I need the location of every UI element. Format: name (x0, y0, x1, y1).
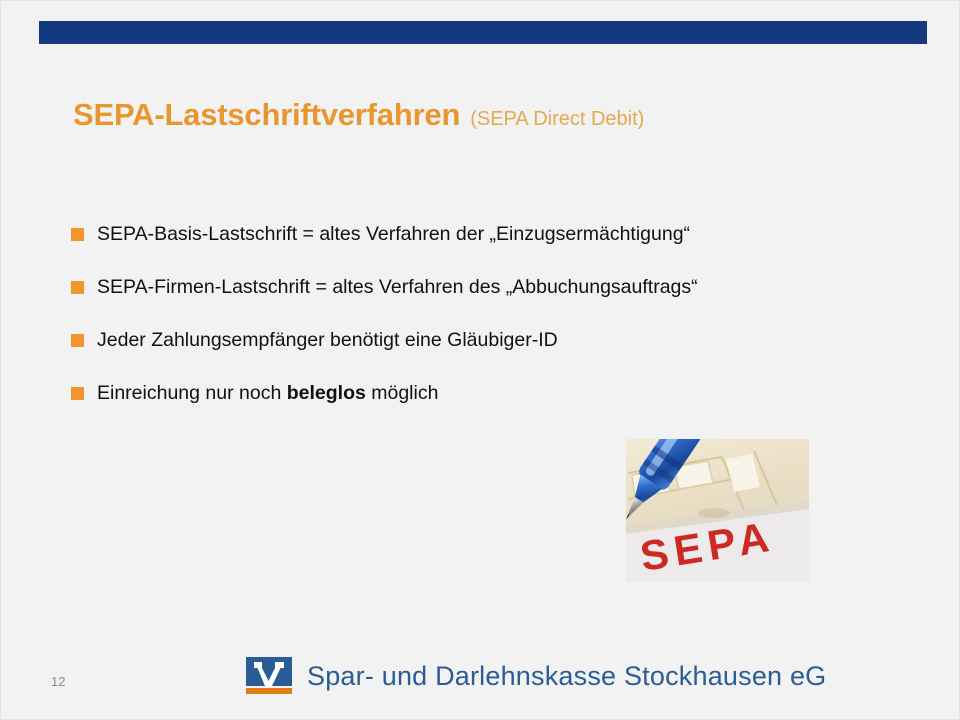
page-title-subtitle: (SEPA Direct Debit) (470, 108, 644, 130)
header-accent-bar (39, 21, 927, 44)
list-item-text: SEPA-Firmen-Lastschrift = altes Verfahre… (97, 276, 698, 298)
list-item: Jeder Zahlungsempfänger benötigt eine Gl… (71, 327, 901, 380)
square-bullet-icon (71, 387, 84, 400)
list-item-text-tail: möglich (366, 382, 439, 404)
page-title-main: SEPA-Lastschriftverfahren (73, 97, 460, 132)
footer-bank-logo-block: Spar- und Darlehnskasse Stockhausen eG (245, 656, 826, 696)
list-item: SEPA-Firmen-Lastschrift = altes Verfahre… (71, 274, 901, 327)
square-bullet-icon (71, 281, 84, 294)
list-item-text: Jeder Zahlungsempfänger benötigt eine Gl… (97, 329, 558, 351)
square-bullet-icon (71, 228, 84, 241)
sepa-form-photo: SEPA (626, 439, 809, 582)
list-item-label: Einreichung nur noch beleglos möglich (97, 380, 438, 407)
page-title: SEPA-Lastschriftverfahren(SEPA Direct De… (73, 97, 644, 133)
page-number: 12 (51, 674, 65, 689)
footer-bank-name: Spar- und Darlehnskasse Stockhausen eG (307, 661, 826, 692)
square-bullet-icon (71, 334, 84, 347)
slide-canvas: SEPA-Lastschriftverfahren(SEPA Direct De… (0, 0, 960, 720)
bullet-list: SEPA-Basis-Lastschrift = altes Verfahren… (71, 221, 901, 433)
list-item-text-emphasis: beleglos (287, 382, 366, 404)
list-item: SEPA-Basis-Lastschrift = altes Verfahren… (71, 221, 901, 274)
list-item-label: Jeder Zahlungsempfänger benötigt eine Gl… (97, 327, 558, 354)
list-item-text: SEPA-Basis-Lastschrift = altes Verfahren… (97, 223, 690, 245)
list-item-text: Einreichung nur noch (97, 382, 287, 404)
list-item-label: SEPA-Basis-Lastschrift = altes Verfahren… (97, 221, 690, 248)
list-item-label: SEPA-Firmen-Lastschrift = altes Verfahre… (97, 274, 698, 301)
list-item: Einreichung nur noch beleglos möglich (71, 380, 901, 433)
vr-bank-logo-icon (245, 656, 293, 696)
footer-ghost-text (43, 656, 46, 668)
